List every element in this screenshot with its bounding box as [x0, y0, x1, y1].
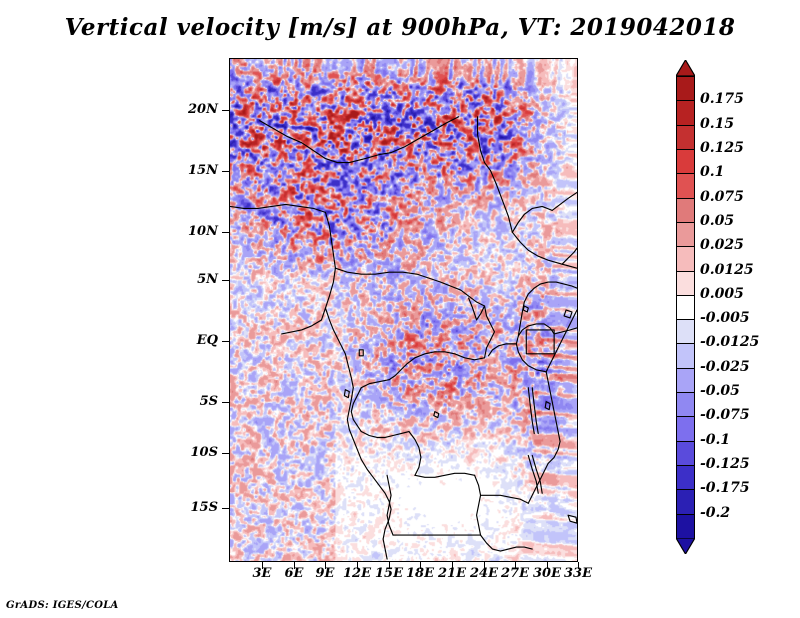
colorbar-swatch — [676, 100, 695, 126]
colorbar-swatch — [676, 76, 695, 102]
y-label-10S: 10S — [191, 445, 218, 460]
colorbar-label: -0.1 — [700, 432, 730, 448]
page-title: Vertical velocity [m/s] at 900hPa, VT: 2… — [0, 14, 800, 41]
y-label-15N: 15N — [188, 163, 218, 178]
colorbar-label: 0.075 — [700, 189, 744, 205]
colorbar-swatch — [676, 246, 695, 272]
y-tick-EQ — [222, 341, 229, 342]
y-tick-5N — [222, 280, 229, 281]
colorbar-label: -0.0125 — [700, 334, 759, 350]
y-tick-15S — [222, 508, 229, 509]
colorbar-swatch — [676, 149, 695, 175]
colorbar-swatch — [676, 295, 695, 321]
colorbar-swatch — [676, 198, 695, 224]
colorbar-label: -0.005 — [700, 310, 750, 326]
y-label-15S: 15S — [191, 500, 218, 515]
colorbar-label: -0.075 — [700, 407, 750, 423]
colorbar-swatch — [676, 514, 695, 540]
x-label-33E: 33E — [558, 566, 598, 581]
colorbar-swatch — [676, 125, 695, 151]
colorbar-label: -0.175 — [700, 480, 750, 496]
y-label-5S: 5S — [200, 394, 218, 409]
colorbar-swatch — [676, 441, 695, 467]
y-tick-10S — [222, 453, 229, 454]
colorbar-swatch — [676, 319, 695, 345]
colorbar-label: -0.025 — [700, 359, 750, 375]
colorbar-label: 0.05 — [700, 213, 734, 229]
colorbar-swatch — [676, 271, 695, 297]
colorbar-swatch — [676, 222, 695, 248]
y-label-EQ: EQ — [197, 333, 218, 348]
colorbar-label: 0.025 — [700, 237, 744, 253]
y-label-5N: 5N — [197, 272, 218, 287]
colorbar-label: 0.0125 — [700, 262, 754, 278]
colorbar-swatch — [676, 392, 695, 418]
country-borders-overlay — [230, 59, 577, 561]
y-tick-15N — [222, 171, 229, 172]
colorbar-label: -0.2 — [700, 505, 730, 521]
grads-credit: GrADS: IGES/COLA — [6, 600, 119, 611]
colorbar-swatch — [676, 489, 695, 515]
x-label-3E: 3E — [244, 566, 280, 581]
colorbar-bottom-arrow — [676, 538, 695, 554]
colorbar-swatch — [676, 368, 695, 394]
y-tick-20N — [222, 110, 229, 111]
map-plot-area — [229, 58, 578, 562]
y-tick-10N — [222, 232, 229, 233]
colorbar-label: -0.125 — [700, 456, 750, 472]
colorbar-swatch — [676, 465, 695, 491]
y-label-20N: 20N — [188, 102, 218, 117]
colorbar-label: 0.175 — [700, 91, 744, 107]
colorbar-label: 0.005 — [700, 286, 744, 302]
colorbar-swatch — [676, 343, 695, 369]
colorbar-swatch — [676, 173, 695, 199]
y-tick-5S — [222, 402, 229, 403]
colorbar-swatch — [676, 416, 695, 442]
colorbar-label: 0.125 — [700, 140, 744, 156]
colorbar — [676, 76, 695, 538]
colorbar-top-arrow — [676, 60, 695, 76]
colorbar-label: -0.05 — [700, 383, 740, 399]
colorbar-label: 0.15 — [700, 116, 734, 132]
colorbar-label: 0.1 — [700, 164, 724, 180]
y-label-10N: 10N — [188, 224, 218, 239]
